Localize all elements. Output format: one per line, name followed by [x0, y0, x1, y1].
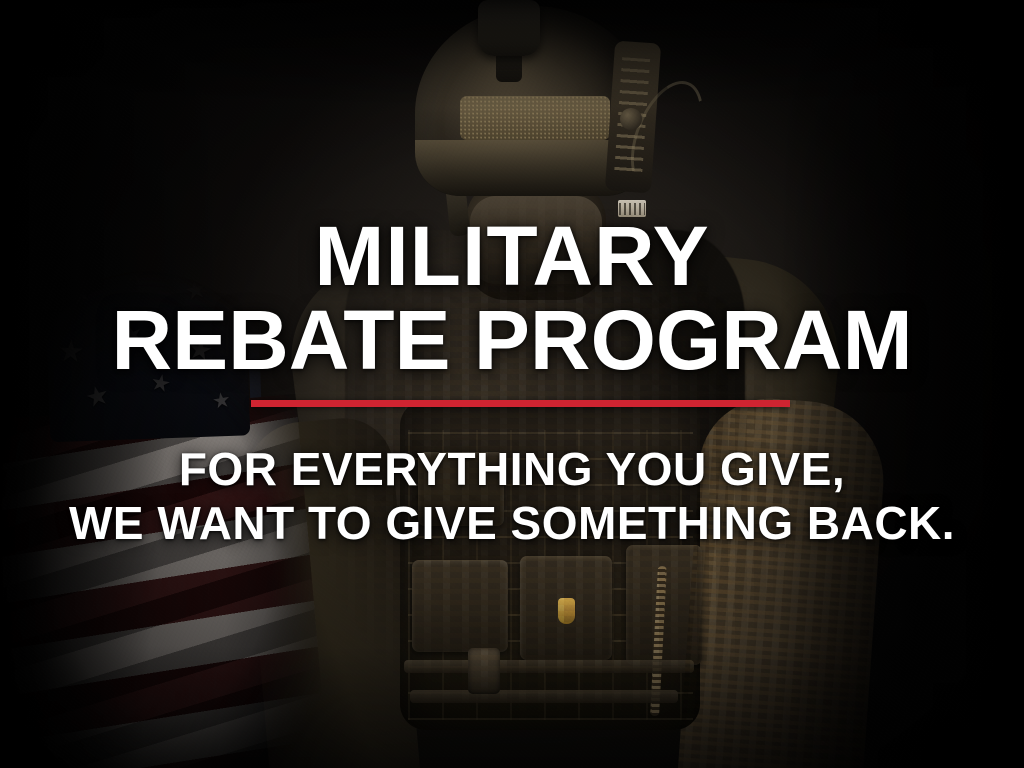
- red-divider-rule: [251, 400, 790, 407]
- headline-line-1: MILITARY: [0, 214, 1024, 298]
- subheadline-line-1: FOR EVERYTHING YOU GIVE,: [0, 444, 1024, 494]
- subheadline-line-2: WE WANT TO GIVE SOMETHING BACK.: [0, 498, 1024, 548]
- banner-content: MILITARY REBATE PROGRAM FOR EVERYTHING Y…: [0, 0, 1024, 768]
- banner-stage: ★ ★ ★ ★ ★ ★ ★ ★ ★ MILITARY REBATE PROGRA…: [0, 0, 1024, 768]
- headline-line-2: REBATE PROGRAM: [0, 298, 1024, 382]
